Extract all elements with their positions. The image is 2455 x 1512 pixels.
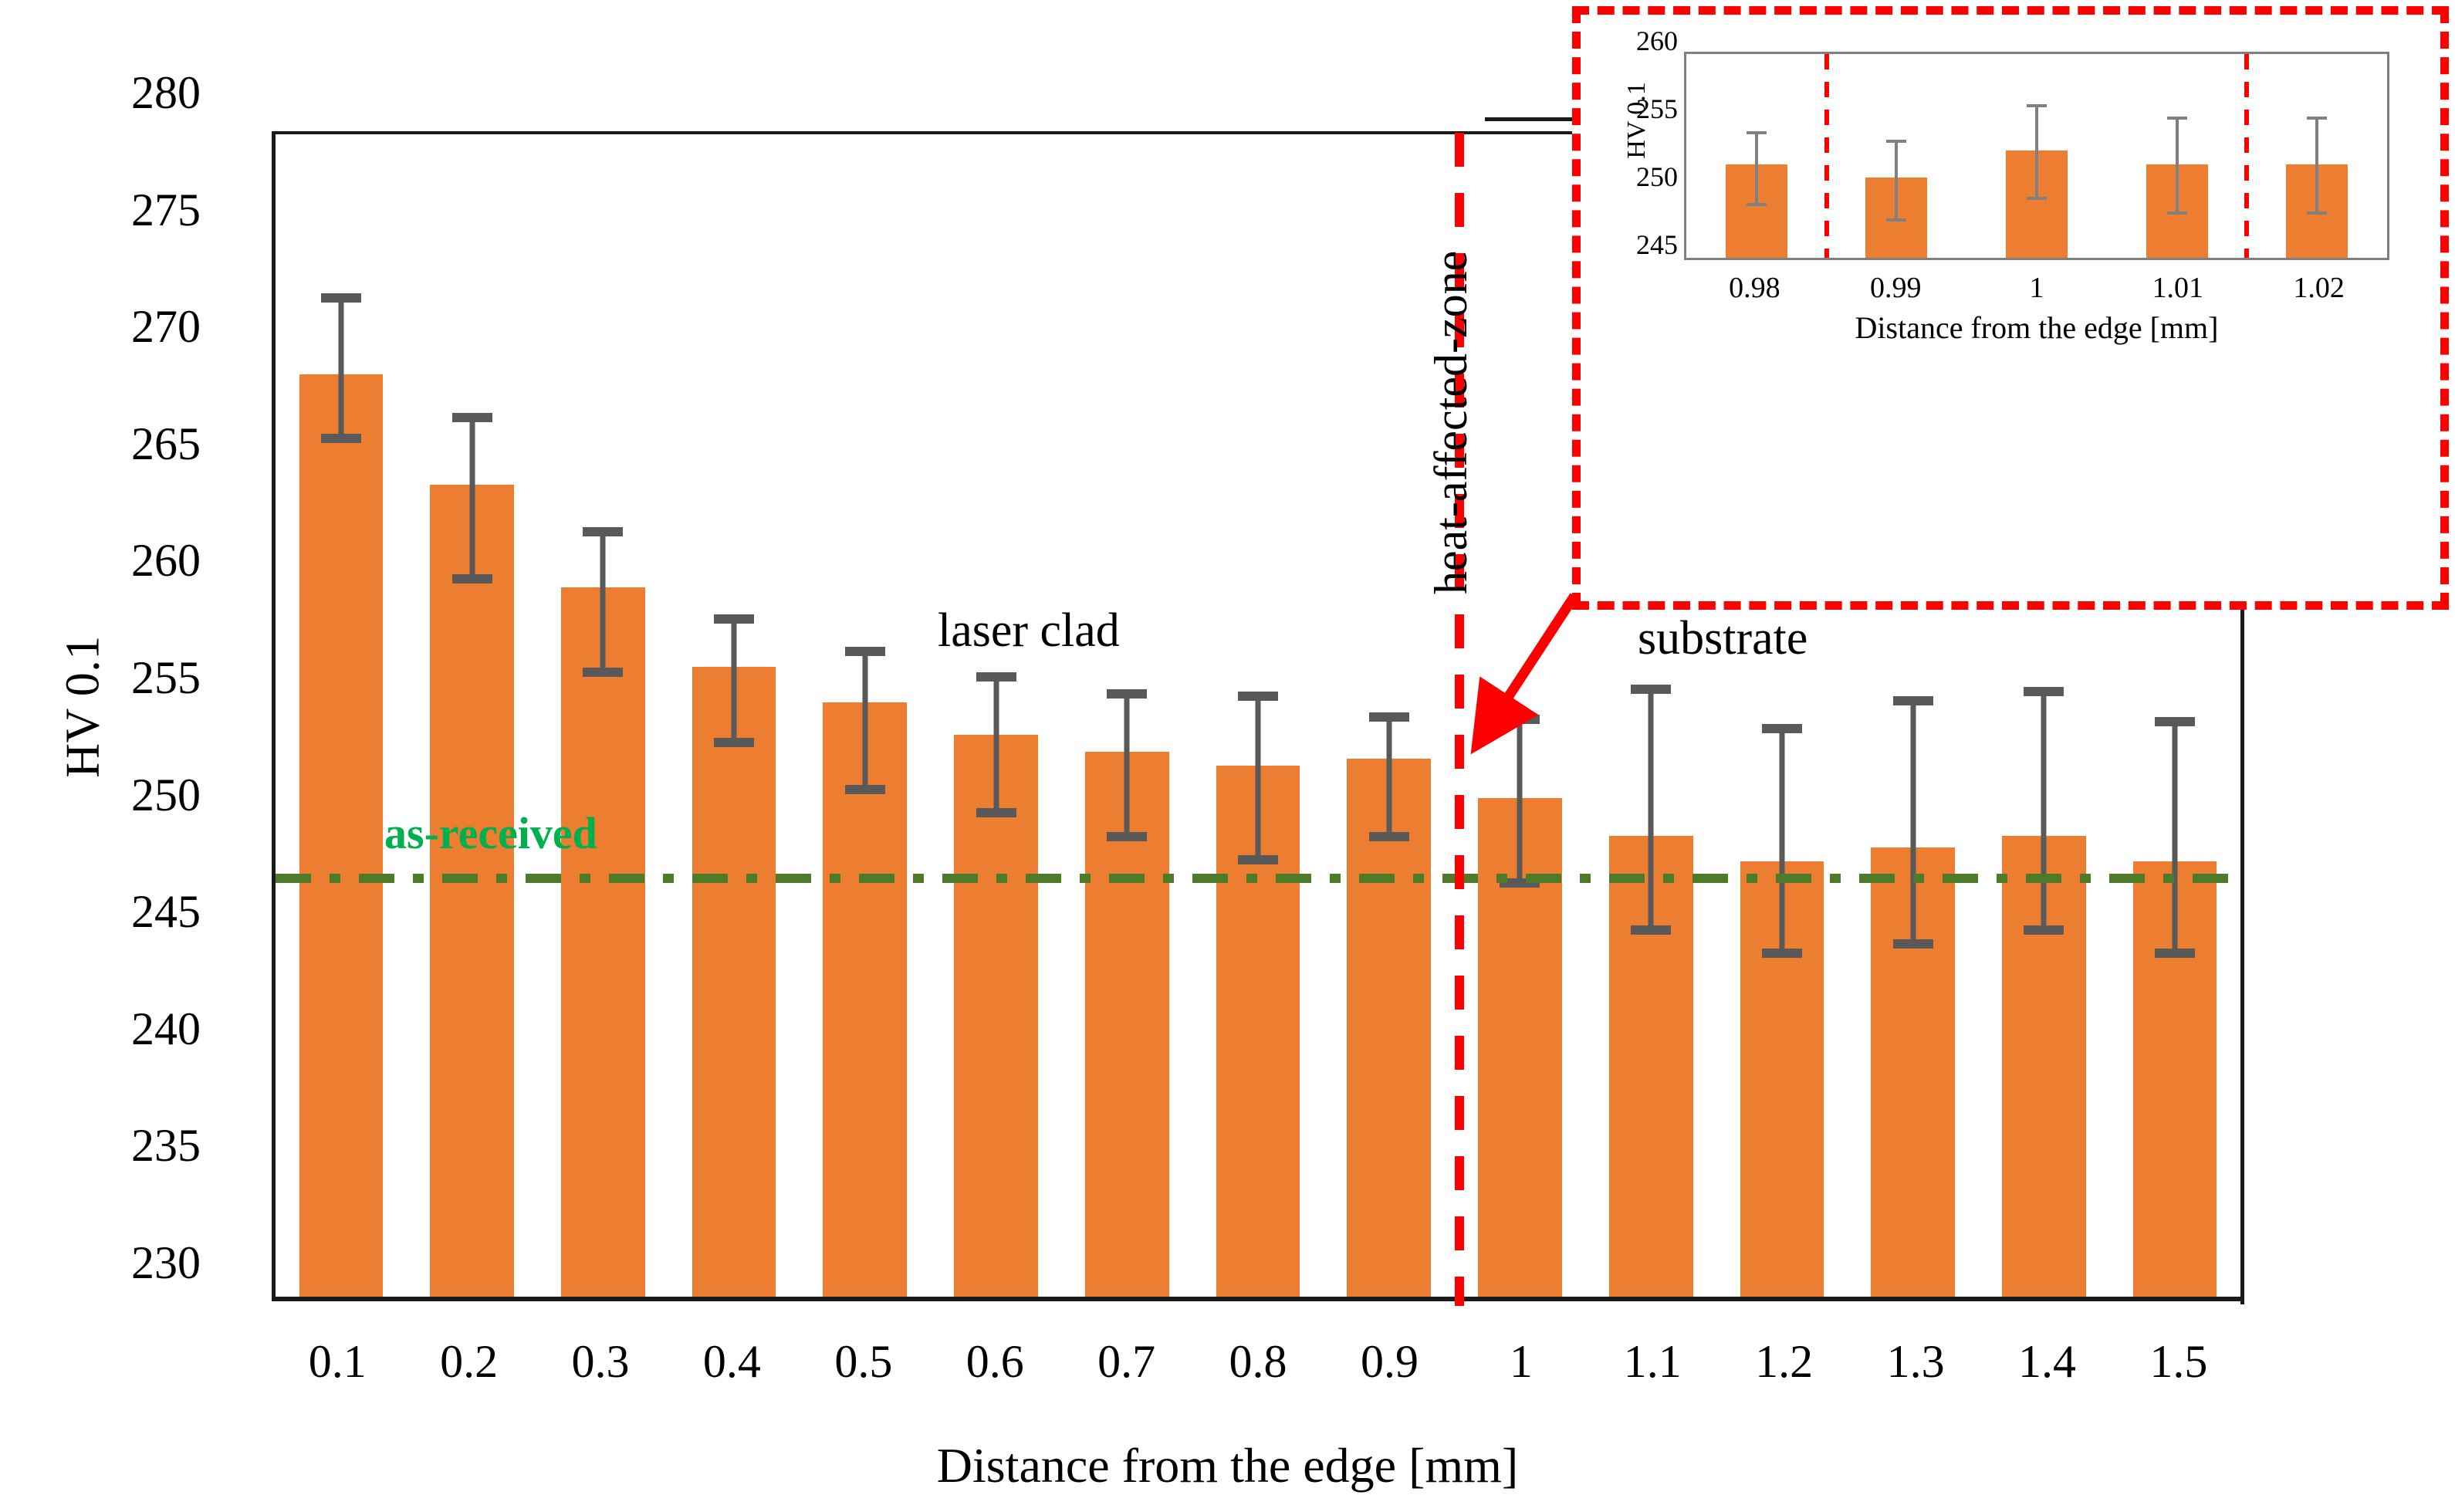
error-bar-cap-upper	[583, 527, 623, 536]
error-bar-cap-lower	[1107, 832, 1147, 841]
inset-bar-group	[2107, 54, 2247, 258]
inset-x-axis-tick: 0.98	[1684, 271, 1825, 305]
x-axis-tick: 1.2	[1718, 1335, 1849, 1389]
bar	[954, 735, 1038, 1297]
error-bar-cap-upper	[1369, 712, 1409, 722]
error-bar	[600, 532, 606, 672]
error-bar-cap-upper	[1107, 689, 1147, 698]
inset-x-axis-tick: 0.99	[1825, 271, 1966, 305]
error-bar-cap-upper	[976, 672, 1016, 682]
error-bar	[2173, 722, 2178, 953]
error-bar-cap-upper	[321, 293, 361, 303]
inset-bar-group	[1966, 54, 2107, 258]
bar-group	[407, 134, 538, 1297]
inset-y-axis-tick: 255	[1636, 95, 1678, 123]
error-bar-cap-lower	[1631, 925, 1671, 935]
error-bar-cap-lower	[1369, 832, 1409, 841]
error-bar-cap-upper	[1893, 696, 1933, 705]
inset-error-bar	[2035, 106, 2038, 198]
as-received-reference-line	[276, 874, 2240, 883]
y-axis-tick: 260	[131, 537, 201, 583]
x-axis-tick: 1.1	[1587, 1335, 1718, 1389]
x-axis-tick: 0.2	[403, 1335, 534, 1389]
bar	[561, 587, 645, 1297]
inset-divider-left	[1824, 54, 1829, 258]
error-bar-cap-lower	[1893, 939, 1933, 949]
x-axis-tick: 0.6	[929, 1335, 1060, 1389]
bar	[299, 374, 384, 1297]
inset-y-axis-tick: 250	[1636, 163, 1678, 191]
error-bar-cap-lower	[714, 738, 754, 747]
inset-error-bar	[2176, 118, 2179, 213]
inset-chart: HV 0.1 260255250245 0.980.9911.011.02 Di…	[1572, 6, 2449, 610]
error-bar	[1256, 696, 1261, 860]
inset-error-bar	[1895, 141, 1898, 220]
bar-group	[276, 134, 407, 1297]
error-bar-cap-upper	[2024, 687, 2064, 696]
inset-bar-group	[2247, 54, 2387, 258]
y-axis-tick: 230	[131, 1240, 201, 1286]
inset-x-axis-title: Distance from the edge [mm]	[1684, 310, 2389, 346]
y-axis-tick: 235	[131, 1122, 201, 1169]
bar-group	[668, 134, 800, 1297]
bar	[430, 485, 514, 1297]
error-bar	[1910, 701, 1916, 944]
inset-error-bar-cap-lower	[2167, 211, 2187, 215]
inset-x-axis-tick: 1.02	[2248, 271, 2389, 305]
bar-group	[1061, 134, 1192, 1297]
error-bar-cap-lower	[583, 668, 623, 677]
x-axis-tick: 1.3	[1850, 1335, 1981, 1389]
x-axis-tick: 0.1	[272, 1335, 403, 1389]
error-bar	[993, 677, 999, 813]
y-axis-tick: 240	[131, 1006, 201, 1052]
error-bar	[1386, 717, 1392, 837]
inset-x-axis-tick-labels: 0.980.9911.011.02	[1684, 271, 2389, 305]
x-axis-tick: 0.8	[1192, 1335, 1324, 1389]
error-bar-cap-lower	[1238, 855, 1278, 864]
y-axis-tick: 270	[131, 303, 201, 350]
error-bar-cap-upper	[845, 647, 885, 656]
error-bar	[469, 418, 475, 579]
error-bar	[1517, 719, 1523, 883]
error-bar-cap-upper	[1762, 724, 1802, 733]
error-bar	[732, 619, 737, 743]
y-axis-tick: 275	[131, 187, 201, 233]
error-bar	[1649, 689, 1654, 930]
error-bar-cap-upper	[2155, 717, 2195, 726]
error-bar	[1124, 694, 1130, 837]
inset-error-bar-cap-upper	[2307, 117, 2327, 120]
inset-bar-series	[1686, 54, 2387, 258]
error-bar	[338, 298, 343, 438]
error-bar-cap-upper	[1238, 692, 1278, 701]
inset-error-bar-cap-lower	[1886, 218, 1906, 222]
inset-divider-right	[2244, 54, 2249, 258]
y-axis-tick: 265	[131, 421, 201, 467]
inset-y-axis-tick: 260	[1636, 27, 1678, 55]
error-bar-cap-lower	[2024, 925, 2064, 935]
inset-error-bar-cap-lower	[2307, 211, 2327, 215]
error-bar	[1779, 729, 1784, 953]
bar	[692, 667, 776, 1297]
inset-y-axis-tick-labels: 260255250245	[1594, 41, 1678, 257]
bar-group	[537, 134, 668, 1297]
heat-affected-zone-label: heat-affected-zone	[1425, 251, 1478, 594]
error-bar-cap-upper	[1631, 685, 1671, 694]
inset-error-bar-cap-lower	[1747, 203, 1767, 206]
region-label-substrate: substrate	[1638, 611, 1807, 666]
inset-error-bar-cap-upper	[1886, 140, 1906, 143]
error-bar-cap-upper	[1500, 715, 1540, 724]
inset-error-bar-cap-upper	[2167, 117, 2187, 120]
region-label-laser-clad: laser clad	[938, 604, 1120, 658]
error-bar	[862, 651, 867, 790]
error-bar-cap-lower	[452, 574, 492, 583]
inset-x-axis-tick: 1.01	[2107, 271, 2248, 305]
error-bar-cap-upper	[452, 413, 492, 422]
inset-error-bar	[1755, 133, 1758, 205]
y-axis-tick: 250	[131, 772, 201, 818]
error-bar-cap-lower	[2155, 949, 2195, 958]
inset-error-bar	[2315, 118, 2318, 213]
error-bar	[2041, 692, 2047, 930]
y-axis-tick: 245	[131, 888, 201, 935]
error-bar-cap-upper	[714, 614, 754, 624]
inset-error-bar-cap-lower	[2027, 197, 2047, 200]
bar-group	[931, 134, 1062, 1297]
bar-group	[1192, 134, 1324, 1297]
y-axis-tick: 255	[131, 655, 201, 701]
inset-bar-group	[1827, 54, 1967, 258]
x-axis-tick: 1	[1456, 1335, 1587, 1389]
inset-connector-right	[2240, 587, 2244, 1304]
inset-error-bar-cap-upper	[2027, 104, 2047, 107]
bar-group	[800, 134, 931, 1297]
error-bar-cap-lower	[321, 434, 361, 443]
x-axis-tick: 0.3	[535, 1335, 666, 1389]
as-received-label: as-received	[384, 807, 597, 859]
error-bar-cap-lower	[976, 808, 1016, 817]
inset-y-axis-tick: 245	[1636, 231, 1678, 259]
y-axis-tick-labels: 280275270265260255250245240235230	[46, 93, 201, 1297]
y-axis-tick: 280	[131, 69, 201, 116]
x-axis-tick: 0.7	[1060, 1335, 1192, 1389]
x-axis-tick-labels: 0.10.20.30.40.50.60.70.80.911.11.21.31.4…	[272, 1335, 2244, 1389]
error-bar-cap-lower	[845, 785, 885, 794]
x-axis-title: Distance from the edge [mm]	[0, 1437, 2455, 1494]
error-bar-cap-lower	[1762, 949, 1802, 958]
x-axis-tick: 0.9	[1324, 1335, 1455, 1389]
x-axis-tick: 0.5	[798, 1335, 929, 1389]
x-axis-tick: 1.4	[1981, 1335, 2112, 1389]
inset-x-axis-tick: 1	[1966, 271, 2108, 305]
inset-error-bar-cap-upper	[1747, 131, 1767, 134]
x-axis-tick: 0.4	[666, 1335, 797, 1389]
inset-bar-group	[1686, 54, 1827, 258]
x-axis-tick: 1.5	[2113, 1335, 2244, 1389]
inset-plot-area	[1684, 52, 2389, 260]
